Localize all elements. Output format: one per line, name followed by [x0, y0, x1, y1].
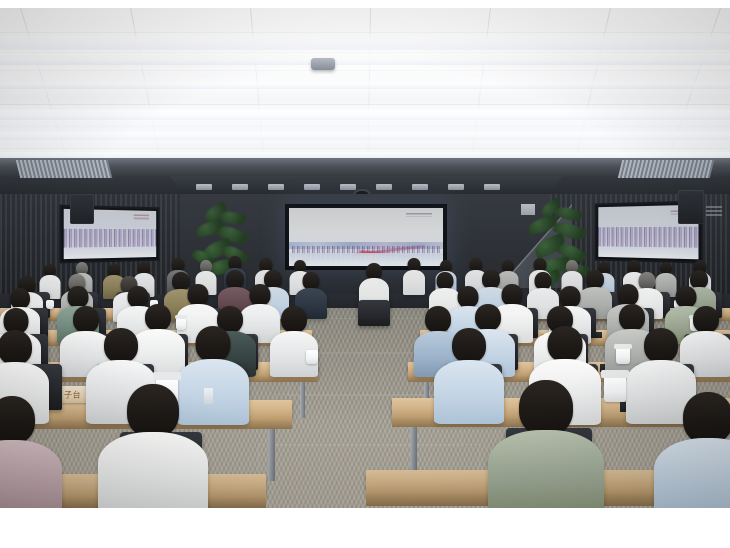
letterbox-top	[0, 0, 730, 8]
city-mass	[64, 229, 156, 249]
room-scene: 李晓	[0, 8, 730, 508]
chair	[358, 300, 390, 326]
ceiling-vent	[448, 184, 464, 190]
ceiling-vent	[376, 184, 392, 190]
teacup	[306, 350, 318, 364]
ceiling	[0, 8, 730, 178]
ceiling-light-strip	[0, 110, 730, 120]
attendee-foreground	[0, 396, 50, 508]
attendee-foreground	[666, 392, 730, 508]
air-return-grille	[618, 160, 714, 178]
name-card-text: 子台	[64, 389, 81, 401]
ceiling-vent	[412, 184, 428, 190]
ceiling-light-strip	[0, 82, 730, 89]
wall-speaker-right	[678, 190, 704, 224]
ceiling-projector-puck	[311, 58, 335, 70]
attendee-foreground	[110, 384, 196, 508]
table-leg	[300, 382, 305, 418]
conference-room-photo: 李晓	[0, 0, 730, 548]
ceiling-vent	[484, 184, 500, 190]
river-band	[598, 246, 698, 259]
ceiling-vent	[268, 184, 284, 190]
ceiling-vent	[196, 184, 212, 190]
river-band	[64, 247, 156, 259]
teacup-with-lid	[604, 376, 626, 402]
ceiling-vent	[340, 184, 356, 190]
teacup-with-lid	[616, 348, 630, 364]
water-bottle	[204, 388, 213, 404]
city-mass	[598, 227, 698, 249]
ceiling-vent	[304, 184, 320, 190]
attendee	[440, 328, 498, 422]
ceiling-light-strip	[0, 56, 730, 65]
ceiling-vent	[232, 184, 248, 190]
letterbox-bottom	[0, 508, 730, 548]
screen-logo-icon	[406, 213, 432, 217]
wall-speaker-left	[70, 194, 94, 224]
ceiling-light-strip	[0, 38, 730, 50]
attendee	[404, 258, 424, 294]
teacup	[46, 300, 54, 309]
table-leg	[268, 429, 275, 481]
air-return-grille	[16, 160, 112, 178]
attendee-foreground	[500, 380, 592, 508]
ceiling-light-strip	[0, 132, 730, 140]
screen-logo-icon	[134, 215, 150, 219]
wall-sign	[706, 204, 722, 216]
